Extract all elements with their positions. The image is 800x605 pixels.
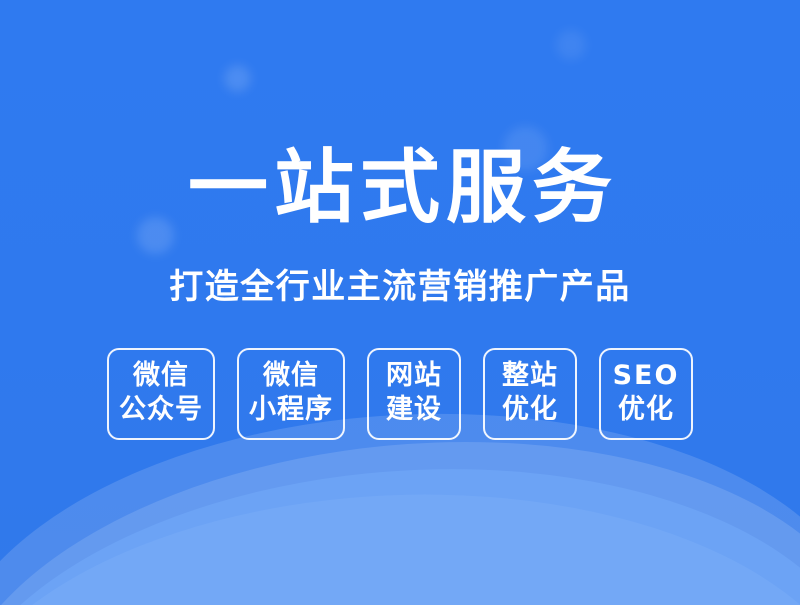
service-badge-wechat-official[interactable]: 微信 公众号 <box>107 348 215 440</box>
badge-line-primary: SEO <box>611 359 681 393</box>
service-badge-website-build[interactable]: 网站 建设 <box>367 348 461 440</box>
badge-line-secondary: 优化 <box>495 393 565 427</box>
badge-line-primary: 微信 <box>249 359 333 393</box>
service-badge-wechat-miniprogram[interactable]: 微信 小程序 <box>237 348 345 440</box>
service-badge-list: 微信 公众号 微信 小程序 网站 建设 整站 优化 SEO 优化 <box>107 348 693 440</box>
badge-line-primary: 网站 <box>379 359 449 393</box>
page-title: 一站式服务 <box>182 148 618 228</box>
promo-banner: 一站式服务 打造全行业主流营销推广产品 微信 公众号 微信 小程序 网站 建设 … <box>0 0 800 605</box>
badge-line-primary: 整站 <box>495 359 565 393</box>
badge-line-primary: 微信 <box>119 359 203 393</box>
banner-content: 一站式服务 打造全行业主流营销推广产品 微信 公众号 微信 小程序 网站 建设 … <box>0 0 800 605</box>
badge-line-secondary: 公众号 <box>119 393 203 427</box>
service-badge-seo-optimization[interactable]: SEO 优化 <box>599 348 693 440</box>
badge-line-secondary: 优化 <box>611 393 681 427</box>
service-badge-site-optimization[interactable]: 整站 优化 <box>483 348 577 440</box>
badge-line-secondary: 建设 <box>379 393 449 427</box>
page-subtitle: 打造全行业主流营销推广产品 <box>169 270 631 304</box>
badge-line-secondary: 小程序 <box>249 393 333 427</box>
